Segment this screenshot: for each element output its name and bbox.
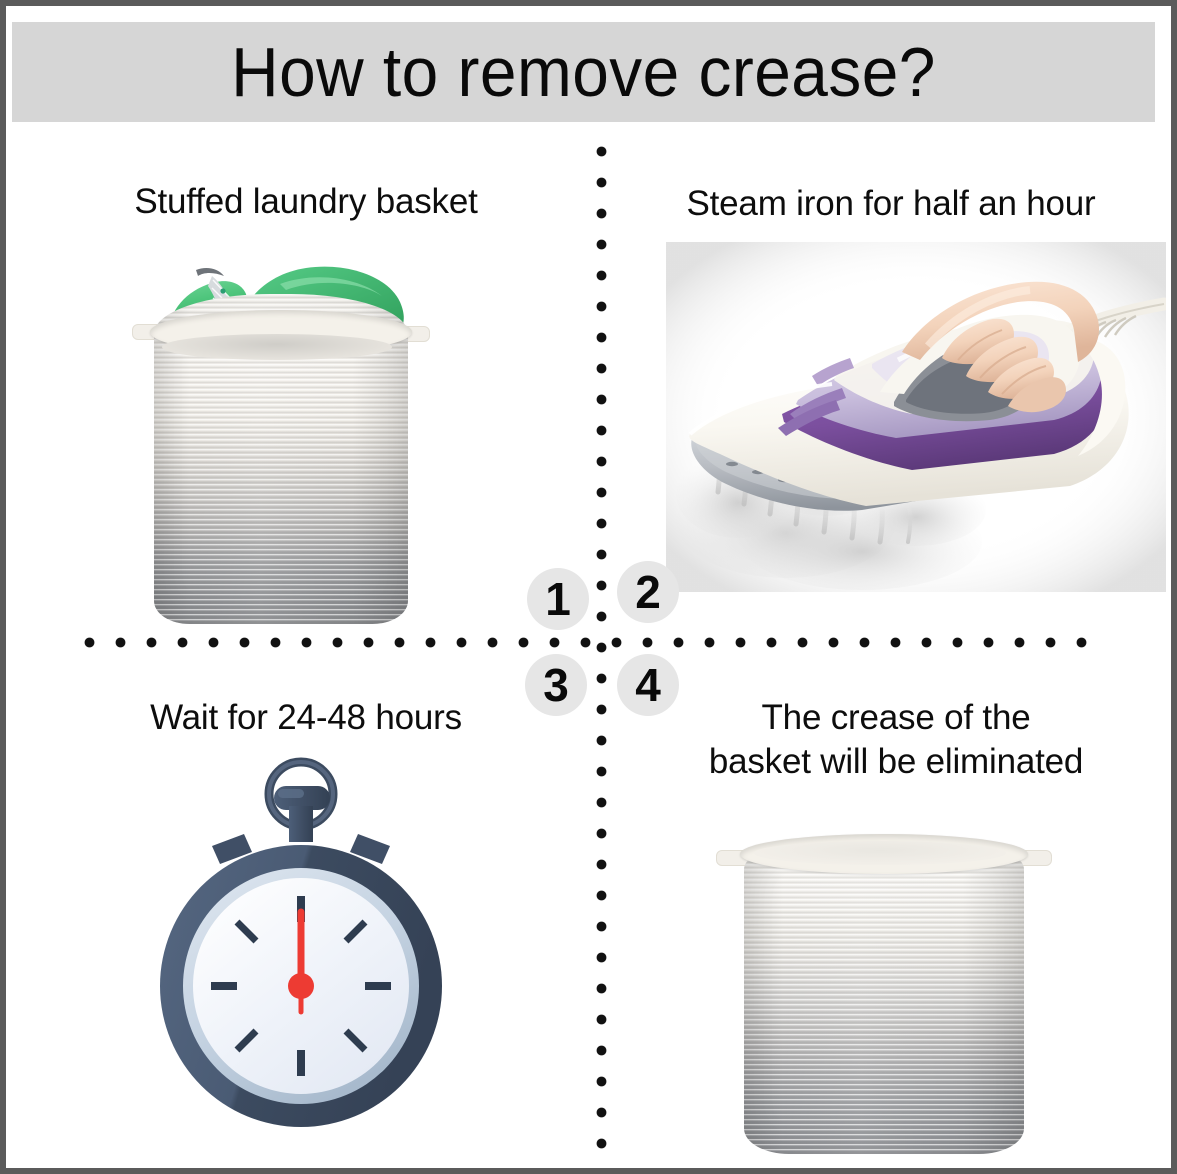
vertical-dotted-divider [596, 146, 607, 1168]
basket-rim [150, 310, 412, 354]
step-badge-4: 4 [617, 654, 679, 716]
step-4-caption: The crease of the basket will be elimina… [646, 696, 1146, 784]
step-2-caption: Steam iron for half an hour [631, 182, 1151, 226]
horizontal-dotted-divider [84, 637, 1100, 648]
step-3-caption: Wait for 24-48 hours [56, 696, 556, 740]
step-4-caption-line-1: The crease of the [646, 696, 1146, 740]
step-4-caption-line-2: basket will be eliminated [646, 740, 1146, 784]
basket-body [744, 834, 1024, 1154]
infographic-page: How to remove crease? Stuffed laundry ba… [0, 0, 1177, 1174]
stopwatch-illustration [146, 754, 456, 1144]
step-badge-1: 1 [527, 568, 589, 630]
step-badge-3: 3 [525, 654, 587, 716]
basket-rim [740, 834, 1028, 874]
step-badge-2: 2 [617, 561, 679, 623]
basket-shading [744, 834, 1024, 1154]
step-1-caption: Stuffed laundry basket [46, 180, 566, 224]
basket-rim-inner [754, 841, 1006, 865]
page-title: How to remove crease? [46, 22, 1120, 122]
smooth-laundry-basket [744, 834, 1024, 1154]
title-band: How to remove crease? [12, 22, 1155, 122]
basket-rim-inner [162, 334, 392, 360]
stuffed-laundry-basket [154, 294, 408, 624]
steam-iron-illustration [666, 242, 1166, 592]
stopwatch-center-pin [288, 973, 314, 999]
